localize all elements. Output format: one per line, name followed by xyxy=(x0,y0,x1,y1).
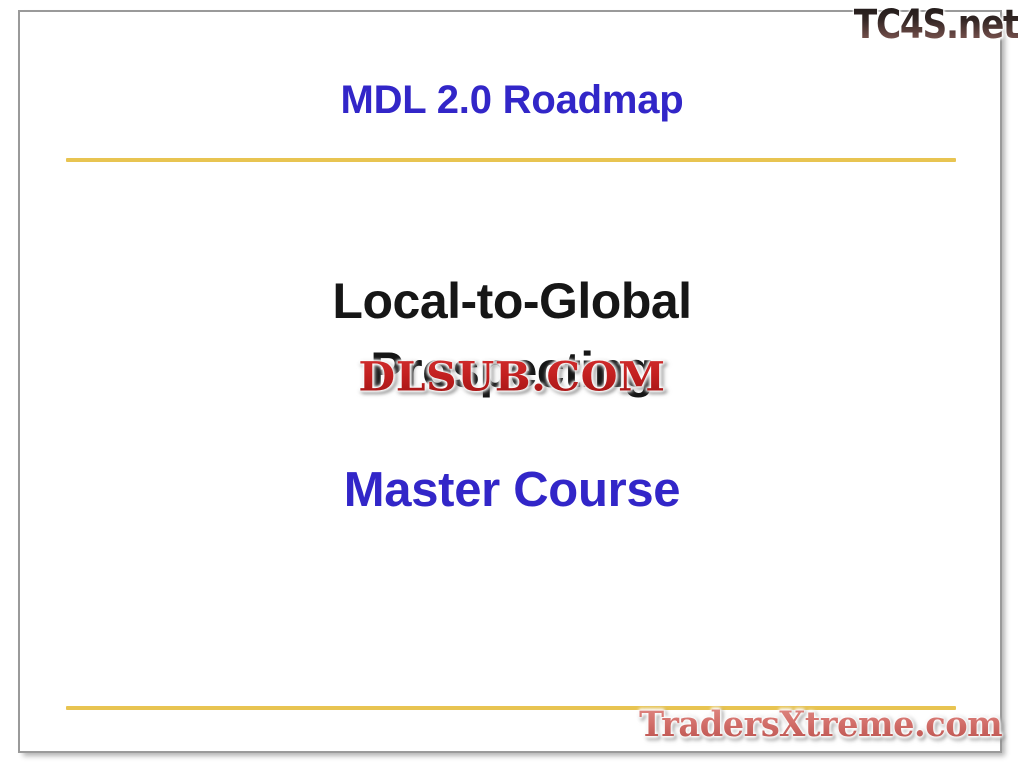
body-line-prospecting: Prospecting xyxy=(20,336,1004,405)
body-line-local-to-global: Local-to-Global xyxy=(20,267,1004,336)
divider-bottom xyxy=(66,706,956,710)
page-title: MDL 2.0 Roadmap xyxy=(20,78,1004,122)
watermark-tradersxtreme: TradersXtreme.com xyxy=(639,704,1002,745)
slide-body: Local-to-Global Prospecting Master Cours… xyxy=(20,267,1004,520)
screenshot-stage: MDL 2.0 Roadmap Local-to-Global Prospect… xyxy=(0,0,1024,768)
divider-top xyxy=(66,158,956,162)
body-line-master-course: Master Course xyxy=(20,461,1004,520)
slide-frame: MDL 2.0 Roadmap Local-to-Global Prospect… xyxy=(18,10,1002,753)
